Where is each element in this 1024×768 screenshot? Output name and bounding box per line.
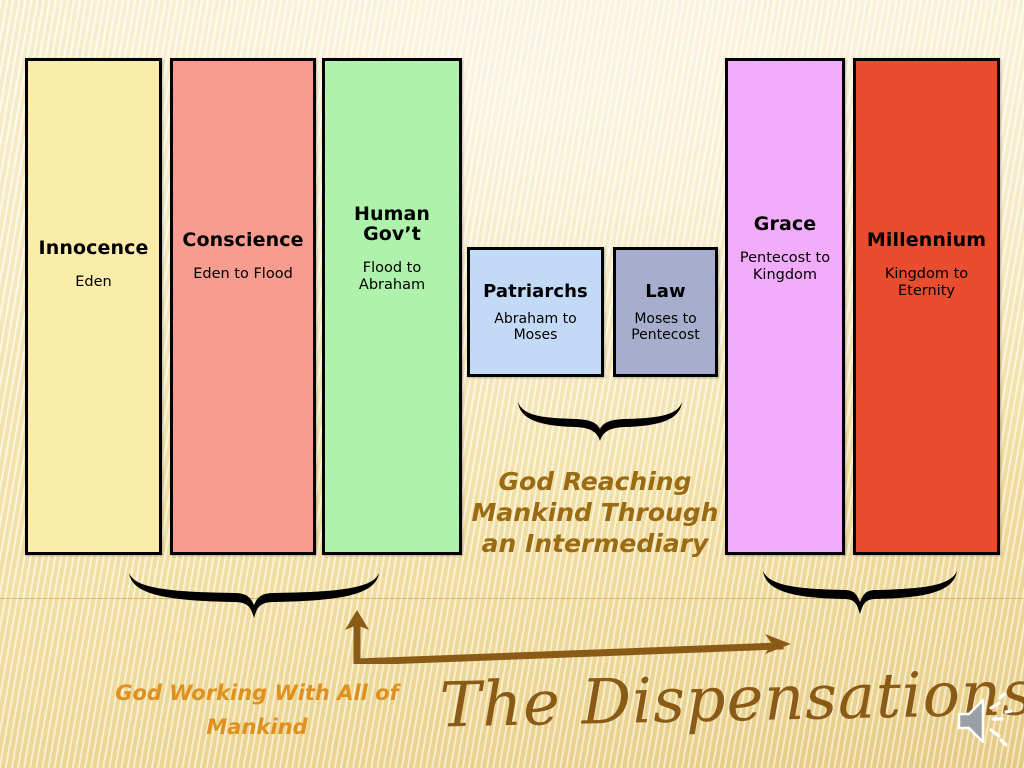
dispensation-title: Conscience: [182, 230, 303, 250]
dispensation-box-human-govt[interactable]: HumanGov’t Flood toAbraham: [322, 58, 462, 555]
dispensation-title: Millennium: [867, 230, 986, 250]
elbow-arrow-icon: [335, 596, 795, 664]
annotation-intermediary: God Reaching Mankind Through an Intermed…: [455, 466, 735, 559]
dispensation-title: Grace: [754, 214, 816, 234]
dispensation-box-law[interactable]: Law Moses toPentecost: [613, 247, 718, 377]
annotation-all-mankind: God Working With All of Mankind: [62, 676, 452, 744]
dispensation-title: Innocence: [39, 238, 149, 258]
page-title: The Dispensations: [439, 657, 971, 763]
brace-up-icon-left: [125, 568, 383, 620]
dispensation-box-patriarchs[interactable]: Patriarchs Abraham toMoses: [467, 247, 604, 377]
dispensation-title: Patriarchs: [483, 282, 588, 302]
dispensation-period: Abraham toMoses: [494, 311, 576, 343]
dispensation-box-millennium[interactable]: Millennium Kingdom toEternity: [853, 58, 1000, 555]
dispensation-period: Eden to Flood: [193, 266, 293, 283]
speaker-icon[interactable]: [955, 690, 1015, 752]
dispensation-period: Eden: [75, 274, 111, 291]
slide-canvas: Innocence Eden Conscience Eden to Flood …: [0, 0, 1024, 768]
dispensation-box-grace[interactable]: Grace Pentecost toKingdom: [725, 58, 845, 555]
dispensation-period: Moses toPentecost: [631, 311, 700, 343]
dispensation-period: Kingdom toEternity: [885, 266, 968, 300]
brace-up-icon-center: [515, 396, 685, 444]
dispensation-title: HumanGov’t: [354, 204, 430, 244]
dispensation-box-conscience[interactable]: Conscience Eden to Flood: [170, 58, 316, 555]
dispensation-period: Pentecost toKingdom: [740, 250, 830, 284]
dispensation-box-innocence[interactable]: Innocence Eden: [25, 58, 162, 555]
dispensation-title: Law: [645, 282, 686, 302]
brace-up-icon-right: [760, 566, 960, 616]
dispensation-period: Flood toAbraham: [359, 260, 425, 294]
horizontal-rule: [0, 598, 1024, 599]
